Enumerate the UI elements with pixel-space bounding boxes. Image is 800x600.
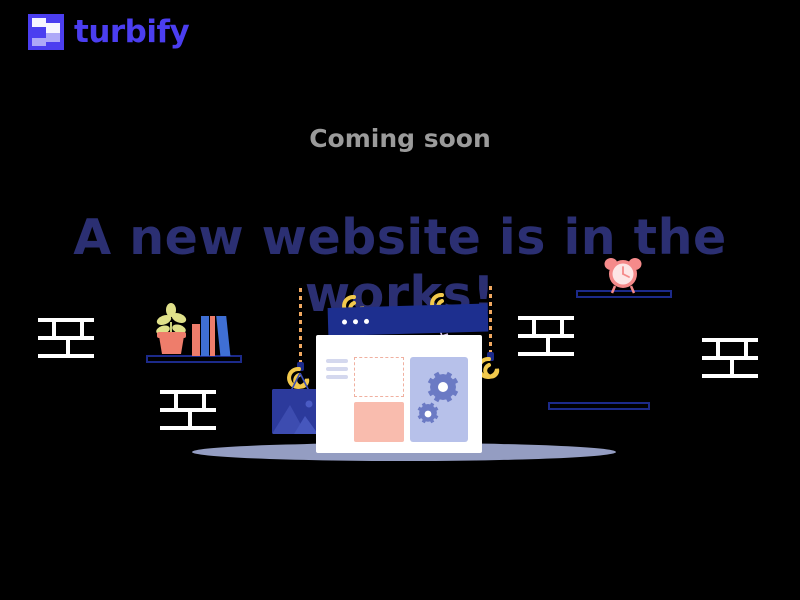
book-2 [201,316,209,356]
book-3 [210,316,215,356]
browser-window-mockup[interactable] [316,308,482,460]
sidebar-line-3 [326,375,348,379]
titlebar-dot-3 [364,319,369,324]
brick-wall-center-right [518,316,574,360]
brick-wall-lower-left [160,390,216,434]
shelf-lower-right [548,402,650,410]
brand-wordmark[interactable]: turbify [74,17,189,48]
titlebar-dot-1 [342,319,347,324]
gear-settings-panel [410,357,468,442]
site-header: turbify [28,14,189,50]
turbify-logo-mark[interactable] [28,14,64,50]
brick-wall-far-right [702,338,758,382]
rope-right [489,286,492,354]
dashed-placeholder-box [354,357,404,397]
under-construction-illustration [0,240,800,500]
alarm-clock [602,256,644,299]
book-1 [192,324,200,356]
pink-content-box [354,402,404,442]
browser-content-area [316,335,482,453]
rope-left [299,288,302,364]
book-4 [216,316,230,356]
brick-wall-far-left [38,318,94,362]
potted-plant [150,298,196,356]
shelf-plant-books [146,355,242,363]
turbify-logo-mark-svg [28,14,64,50]
sidebar-line-2 [326,367,348,371]
sidebar-line-1 [326,359,348,363]
titlebar-dot-2 [353,319,358,324]
browser-titlebar [328,304,489,336]
books-stack [192,314,234,356]
eyebrow-text: Coming soon [0,124,800,153]
